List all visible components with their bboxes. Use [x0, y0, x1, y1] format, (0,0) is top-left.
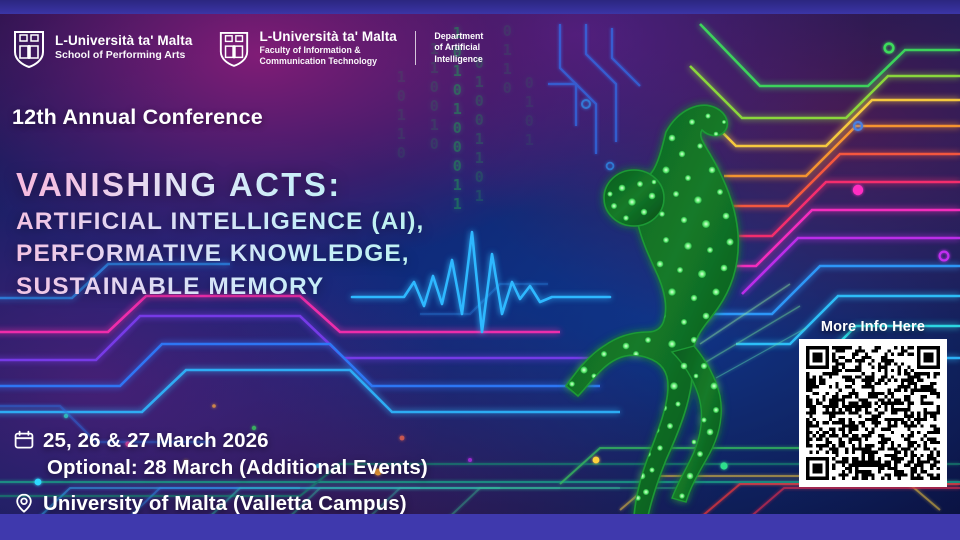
- title-line-2: ARTIFICIAL INTELLIGENCE (AI),: [16, 206, 424, 239]
- department-line3: Intelligence: [434, 54, 483, 65]
- logo-divider: [415, 31, 417, 65]
- department-line2: of Artificial: [434, 42, 483, 53]
- binary-stream: 0101: [520, 74, 538, 150]
- qr-code-icon[interactable]: [799, 339, 947, 487]
- title-line-3: PERFORMATIVE KNOWLEDGE,: [16, 238, 424, 271]
- dancing-figure-illustration: [548, 74, 838, 526]
- event-date-row: 25, 26 & 27 March 2026 Optional: 28 Marc…: [14, 427, 428, 482]
- poster-bottom-border: [0, 514, 960, 540]
- event-date-optional: Optional: 28 March (Additional Events): [43, 454, 428, 481]
- poster-top-border: [0, 0, 960, 14]
- qr-label: More Info Here: [799, 319, 947, 335]
- university-shield-icon: [218, 29, 250, 67]
- department-line1: Department: [434, 31, 483, 42]
- logo-subtitle-line2: Communication Technology: [259, 56, 396, 67]
- conference-eyebrow: 12th Annual Conference: [12, 105, 263, 130]
- title-block: VANISHING ACTS: ARTIFICIAL INTELLIGENCE …: [16, 164, 424, 303]
- logo-faculty-ict: L-Università ta' Malta Faculty of Inform…: [218, 29, 483, 67]
- logo-subtitle: School of Performing Arts: [55, 49, 192, 62]
- binary-stream: 10110: [392, 68, 410, 163]
- conference-poster: 1010100011 01001101 110010 0110 10110 01…: [0, 0, 960, 540]
- poster-stage: 1010100011 01001101 110010 0110 10110 01…: [0, 14, 960, 526]
- university-shield-icon: [12, 28, 46, 68]
- event-date-text: 25, 26 & 27 March 2026 Optional: 28 Marc…: [43, 427, 428, 482]
- logo-title: L-Università ta' Malta: [259, 29, 396, 45]
- title-line-4: SUSTAINABLE MEMORY: [16, 271, 424, 304]
- page-title: VANISHING ACTS:: [16, 164, 424, 206]
- binary-stream: 01001101: [470, 54, 488, 206]
- department-label: Department of Artificial Intelligence: [434, 31, 483, 65]
- logo-bar: L-Università ta' Malta School of Perform…: [12, 28, 483, 68]
- logo-title: L-Università ta' Malta: [55, 33, 192, 49]
- logo-subtitle-line1: Faculty of Information &: [259, 45, 396, 56]
- binary-stream: 0110: [498, 22, 516, 98]
- calendar-icon: [14, 430, 34, 455]
- event-date-primary: 25, 26 & 27 March 2026: [43, 429, 269, 452]
- qr-section[interactable]: More Info Here: [799, 319, 947, 487]
- event-details: 25, 26 & 27 March 2026 Optional: 28 Marc…: [14, 427, 428, 518]
- logo-school-of-performing-arts: L-Università ta' Malta School of Perform…: [12, 28, 192, 68]
